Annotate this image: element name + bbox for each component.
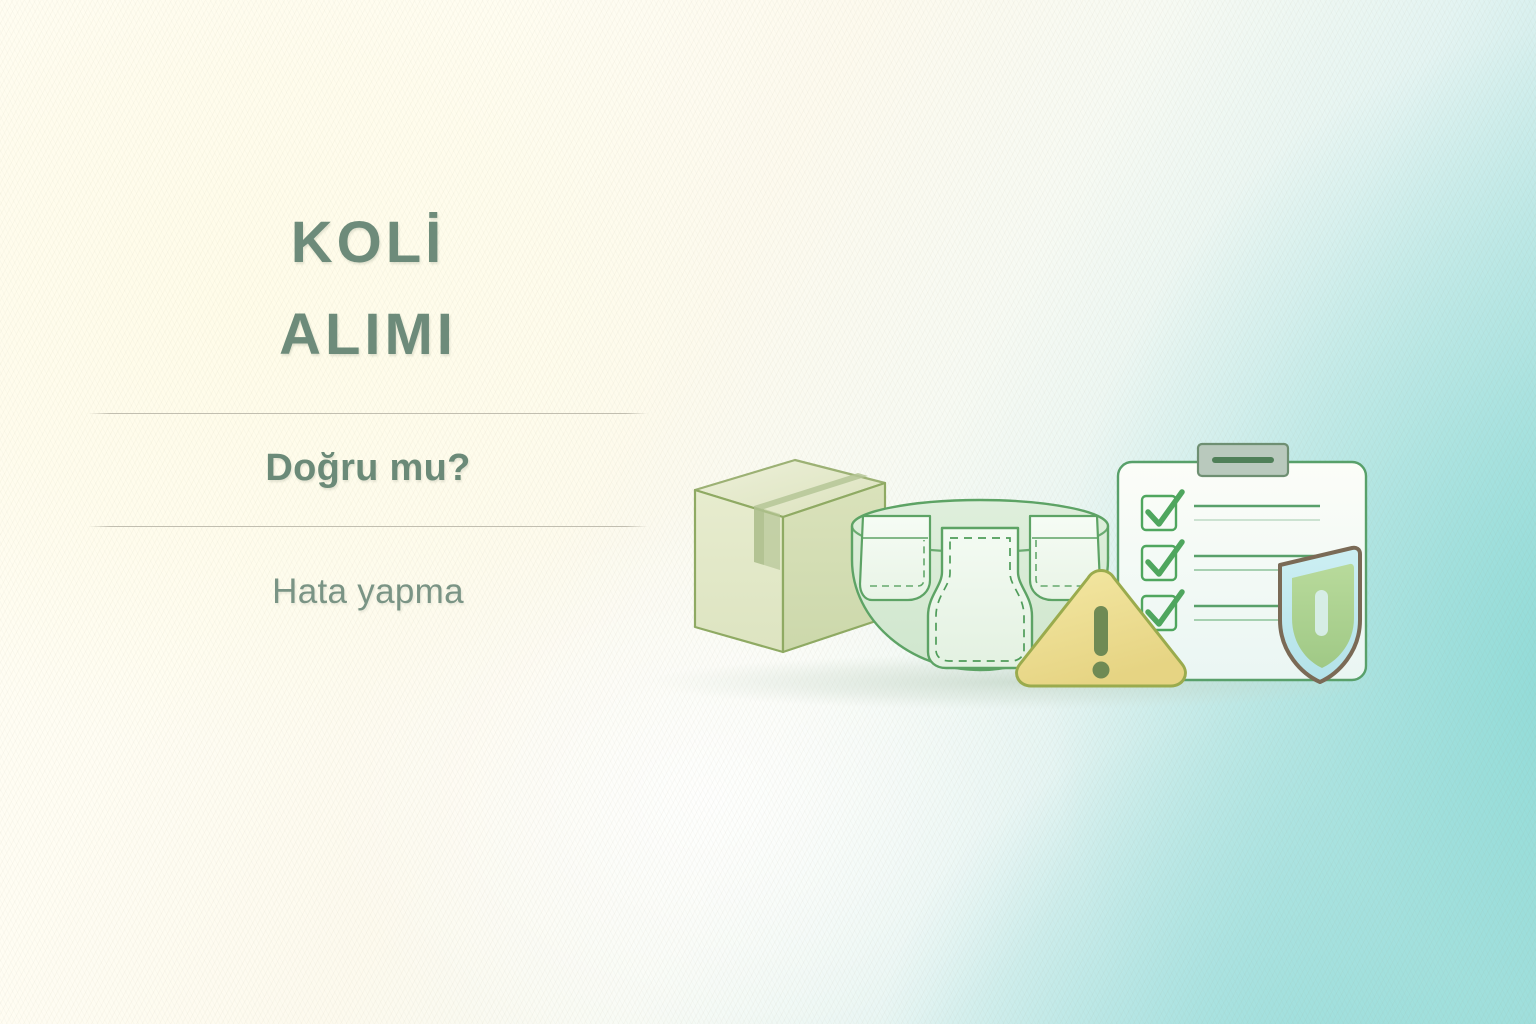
- divider-bottom: [88, 526, 648, 527]
- shield-exclamation-bar: [1315, 590, 1328, 636]
- exclamation-dot: [1093, 662, 1110, 679]
- headline-block: KOLİ ALIMI Doğru mu? Hata yapma: [88, 214, 648, 612]
- page-title-line-1: KOLİ: [88, 214, 648, 272]
- poster-canvas: KOLİ ALIMI Doğru mu? Hata yapma: [0, 0, 1536, 1024]
- page-title-line-2: ALIMI: [88, 306, 648, 364]
- illustration-group: [620, 420, 1440, 750]
- clipboard-clip: [1198, 444, 1288, 476]
- divider-top: [88, 413, 648, 414]
- exclamation-bar: [1094, 606, 1108, 656]
- subtitle-question: Doğru mu?: [88, 447, 648, 490]
- tagline-text: Hata yapma: [88, 572, 648, 612]
